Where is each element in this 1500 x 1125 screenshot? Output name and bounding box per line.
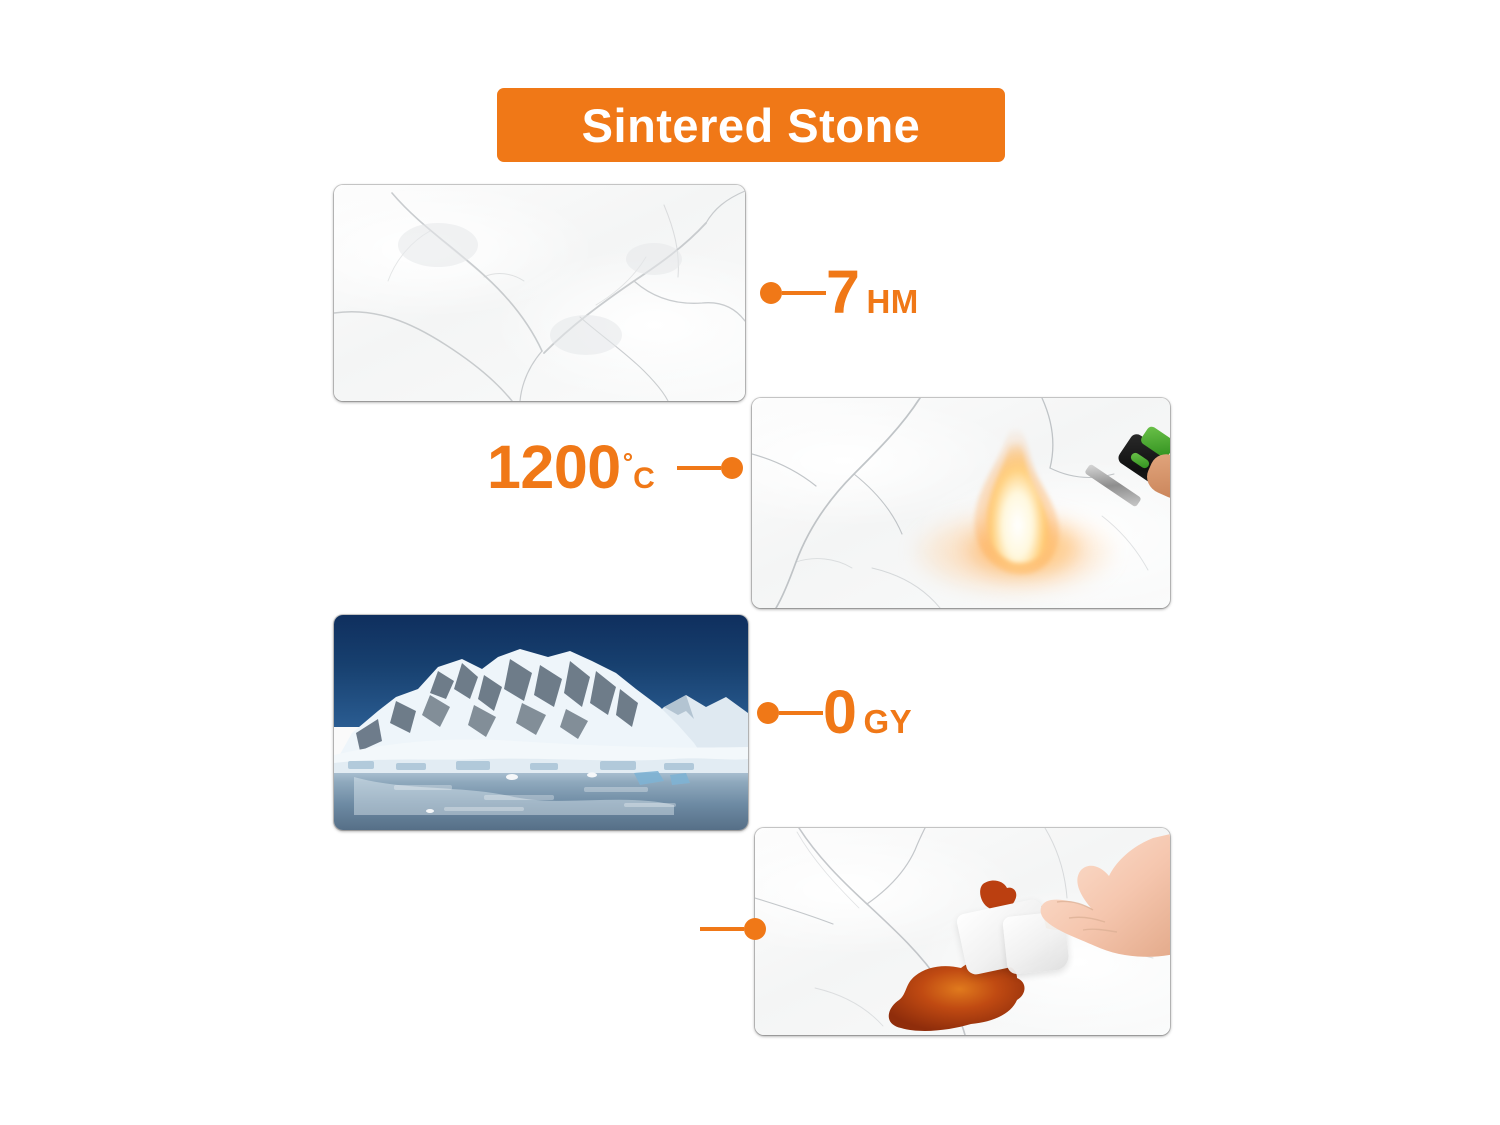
callout-hardness-unit: HM [866,285,918,318]
callout-leader-line [700,927,744,931]
callout-hardness-value: 7 [826,262,859,323]
title-banner: Sintered Stone [497,88,1005,162]
callout-dot-icon [757,702,779,724]
flame-test-image [752,398,1170,608]
callout-heat-resistance-value: 1200 [487,437,621,498]
panel-marble-slab [334,185,745,401]
callout-hardness: 7 HM [760,262,919,323]
callout-heat-resistance: 1200 ° C [487,437,743,498]
infographic-canvas: Sintered Stone [0,0,1500,1125]
glacier-mountains [334,615,748,830]
callout-heat-resistance-label: 1200 ° C [487,437,655,498]
hand-icon [993,832,1170,972]
marble-veining [334,185,745,401]
stain-wipe-image [755,828,1170,1035]
degree-symbol-icon: ° [623,449,633,475]
callout-leader-line [779,711,823,715]
callout-leader-line [782,291,826,295]
glacier-image [334,615,748,830]
callout-stain-resistance [700,918,766,940]
page-title: Sintered Stone [582,102,921,149]
callout-radiation: 0 GY [757,682,912,743]
panel-stain-wipe [755,828,1170,1035]
callout-dot-icon [721,457,743,479]
callout-dot-icon [760,282,782,304]
panel-flame-test [752,398,1170,608]
callout-radiation-value: 0 [823,682,856,743]
panel-glacier [334,615,748,830]
callout-radiation-label: 0 GY [823,682,912,743]
callout-hardness-label: 7 HM [826,262,919,323]
callout-radiation-unit: GY [863,705,912,738]
callout-heat-resistance-unit: C [633,464,655,494]
marble-slab-image [334,185,745,401]
callout-leader-line [677,466,721,470]
callout-dot-icon [744,918,766,940]
flame-icon [950,412,1080,582]
